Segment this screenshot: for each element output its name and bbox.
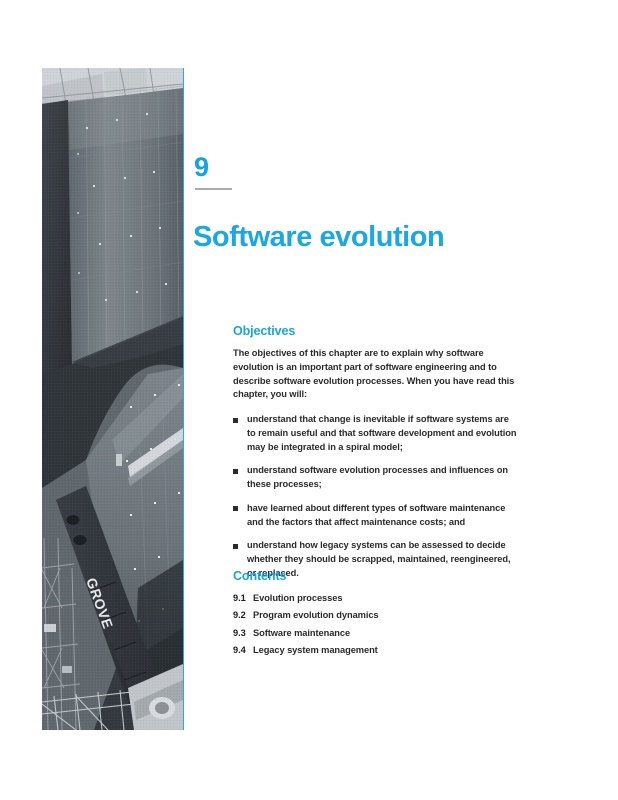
objective-text: understand software evolution processes … [247,465,508,489]
objective-list-item: understand software evolution processes … [233,464,518,492]
construction-crane-photo: GROVE [42,68,184,730]
chapter-opener-page: GROVE [0,0,618,800]
objectives-intro-paragraph: The objectives of this chapter are to ex… [233,347,518,402]
objective-text: understand that change is inevitable if … [247,414,517,452]
chapter-title: Software evolution [193,220,444,254]
contents-item-number: 9.2 [233,608,253,622]
contents-section: Contents 9.1 Evolution processes 9.2 Pro… [233,569,518,660]
square-bullet-icon [233,544,238,549]
objectives-heading: Objectives [233,324,518,339]
contents-item-number: 9.1 [233,591,253,605]
contents-list-item: 9.3 Software maintenance [233,626,518,640]
square-bullet-icon [233,506,238,511]
objective-text: have learned about different types of so… [247,503,505,527]
contents-item-label: Legacy system management [253,643,378,657]
chapter-number: 9 [194,154,209,181]
objectives-list: understand that change is inevitable if … [233,413,518,581]
contents-list-item: 9.1 Evolution processes [233,591,518,605]
contents-item-label: Program evolution dynamics [253,608,379,622]
objective-list-item: have learned about different types of so… [233,502,518,530]
square-bullet-icon [233,469,238,474]
contents-item-label: Evolution processes [253,591,342,605]
objective-list-item: understand that change is inevitable if … [233,413,518,454]
contents-list: 9.1 Evolution processes 9.2 Program evol… [233,591,518,657]
contents-item-label: Software maintenance [253,626,350,640]
square-bullet-icon [233,418,238,423]
contents-list-item: 9.4 Legacy system management [233,643,518,657]
objectives-section: Objectives The objectives of this chapte… [233,324,518,581]
contents-item-number: 9.3 [233,626,253,640]
chapter-number-rule [195,188,232,190]
contents-list-item: 9.2 Program evolution dynamics [233,608,518,622]
contents-item-number: 9.4 [233,643,253,657]
contents-heading: Contents [233,569,518,584]
